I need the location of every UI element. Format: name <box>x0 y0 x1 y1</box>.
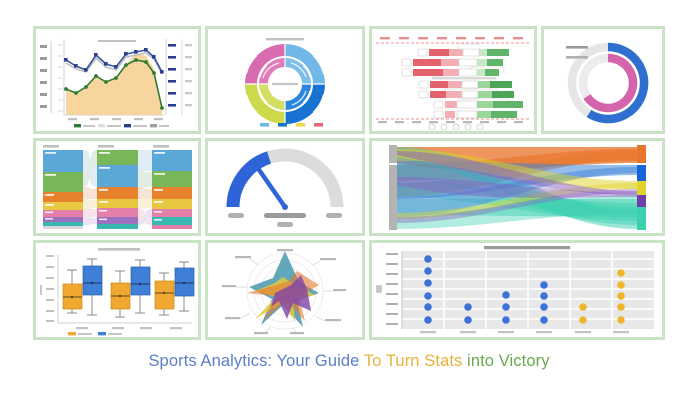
panel-box-plot[interactable] <box>33 240 201 340</box>
chart-title-placeholder <box>98 40 136 42</box>
panel-diverging-bar[interactable] <box>369 26 537 134</box>
bottom-axis-labels <box>378 121 523 123</box>
chart-title-placeholder <box>266 38 304 40</box>
area-line-combo-chart <box>36 29 198 131</box>
y-axis-title <box>40 285 42 295</box>
caption-part-3: into Victory <box>467 352 550 370</box>
sankey-diagram <box>372 141 662 233</box>
panel-multi-ring-donut[interactable] <box>205 26 365 134</box>
table-row <box>434 101 523 108</box>
table-row <box>434 111 517 118</box>
gauge-hub <box>282 204 288 210</box>
panel-dot-strip[interactable] <box>369 240 665 340</box>
diverging-bar-chart <box>372 29 534 131</box>
alluvial-column-1 <box>43 150 83 229</box>
infographic-caption: Sports Analytics: Your Guide To Turn Sta… <box>0 352 698 371</box>
y-axis-title <box>376 285 382 293</box>
alluvial-flow-chart <box>36 141 198 233</box>
multi-ring-donut-chart <box>208 29 362 131</box>
chart-title-placeholder <box>98 248 140 251</box>
panel-gauge[interactable] <box>205 138 365 236</box>
donut-rings <box>245 44 325 124</box>
gauge-chart <box>208 141 362 233</box>
panel-radial-progress[interactable] <box>541 26 665 134</box>
chart-grid <box>33 26 665 340</box>
chart-title-placeholder <box>484 246 570 249</box>
box-plot-chart <box>36 243 198 337</box>
caption-part-1: Sports Analytics: Your Guide <box>148 352 363 370</box>
radar-chart <box>208 243 362 337</box>
alluvial-column-3 <box>152 150 192 229</box>
panel-sankey[interactable] <box>369 138 665 236</box>
sankey-links <box>397 147 637 229</box>
sankey-source-nodes <box>389 145 397 230</box>
radial-progress-chart <box>544 29 662 131</box>
infographic-page: Sports Analytics: Your Guide To Turn Sta… <box>0 0 698 400</box>
sankey-target-nodes <box>637 145 646 230</box>
dot-strip-plot <box>372 243 662 337</box>
caption-part-2: To Turn Stats <box>364 352 467 370</box>
alluvial-column-2 <box>97 150 138 229</box>
panel-alluvial-flow[interactable] <box>33 138 201 236</box>
panel-radar[interactable] <box>205 240 365 340</box>
panel-area-line-combo[interactable] <box>33 26 201 134</box>
